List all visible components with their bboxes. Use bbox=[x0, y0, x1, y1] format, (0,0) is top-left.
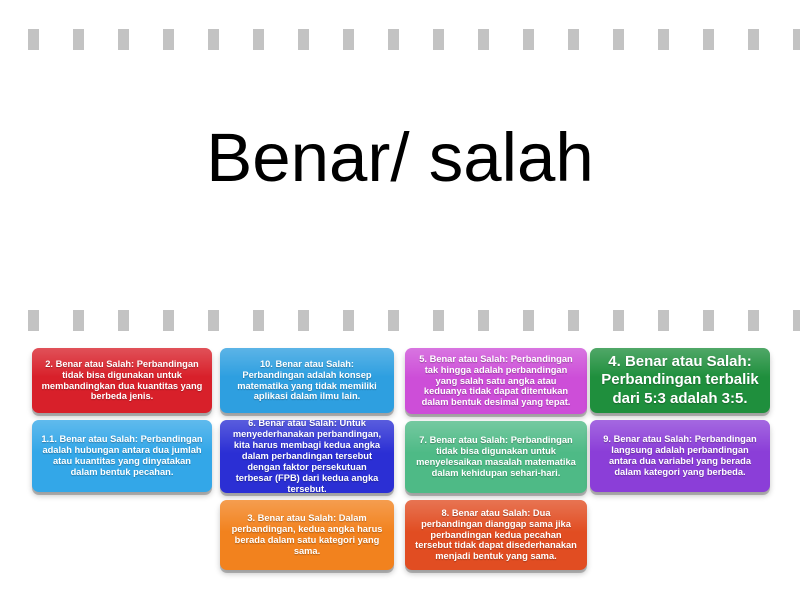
card-4-text: 4. Benar atau Salah: Perbandingan terbal… bbox=[598, 353, 762, 408]
card-column-1: 2. Benar atau Salah: Perbandingan tidak … bbox=[32, 348, 212, 492]
dashed-divider-top bbox=[0, 29, 800, 51]
dash-mark bbox=[703, 310, 714, 331]
card-6[interactable]: 6. Benar atau Salah: Untuk menyederhanak… bbox=[220, 420, 394, 493]
dash-mark bbox=[208, 310, 219, 331]
dash-mark bbox=[613, 29, 624, 50]
dash-mark bbox=[298, 29, 309, 50]
card-3-text: 3. Benar atau Salah: Dalam perbandingan,… bbox=[228, 513, 386, 557]
dash-mark bbox=[613, 310, 624, 331]
card-2-text: 2. Benar atau Salah: Perbandingan tidak … bbox=[40, 359, 204, 403]
dash-mark bbox=[298, 310, 309, 331]
card-7[interactable]: 7. Benar atau Salah: Perbandingan tidak … bbox=[405, 421, 587, 493]
dash-mark bbox=[478, 29, 489, 50]
card-2[interactable]: 2. Benar atau Salah: Perbandingan tidak … bbox=[32, 348, 212, 413]
dash-mark bbox=[343, 29, 354, 50]
card-3[interactable]: 3. Benar atau Salah: Dalam perbandingan,… bbox=[220, 500, 394, 570]
card-9[interactable]: 9. Benar atau Salah: Perbandingan langsu… bbox=[590, 420, 770, 492]
dash-mark bbox=[28, 310, 39, 331]
dash-mark bbox=[253, 310, 264, 331]
card-board: 2. Benar atau Salah: Perbandingan tidak … bbox=[0, 348, 800, 588]
dash-mark bbox=[478, 310, 489, 331]
dash-mark bbox=[118, 29, 129, 50]
card-4[interactable]: 4. Benar atau Salah: Perbandingan terbal… bbox=[590, 348, 770, 413]
dash-mark bbox=[793, 310, 800, 331]
dash-mark bbox=[658, 310, 669, 331]
page-title: Benar/ salah bbox=[0, 120, 800, 196]
dash-mark bbox=[118, 310, 129, 331]
dash-mark bbox=[523, 310, 534, 331]
dash-mark bbox=[793, 29, 800, 50]
card-9-text: 9. Benar atau Salah: Perbandingan langsu… bbox=[598, 434, 762, 478]
dash-mark bbox=[658, 29, 669, 50]
dash-mark bbox=[748, 310, 759, 331]
card-column-4: 4. Benar atau Salah: Perbandingan terbal… bbox=[590, 348, 770, 492]
dash-mark bbox=[568, 29, 579, 50]
quiz-board-stage: Benar/ salah 2. Benar atau Salah: Perban… bbox=[0, 0, 800, 600]
dash-mark bbox=[253, 29, 264, 50]
dash-mark bbox=[163, 310, 174, 331]
dash-mark bbox=[748, 29, 759, 50]
card-10[interactable]: 10. Benar atau Salah: Perbandingan adala… bbox=[220, 348, 394, 413]
card-6-text: 6. Benar atau Salah: Untuk menyederhanak… bbox=[228, 420, 386, 493]
card-8-text: 8. Benar atau Salah: Dua perbandingan di… bbox=[413, 508, 579, 563]
dash-mark bbox=[433, 29, 444, 50]
card-1-1-text: 1.1. Benar atau Salah: Perbandingan adal… bbox=[40, 434, 204, 478]
dash-mark bbox=[433, 310, 444, 331]
dash-mark bbox=[163, 29, 174, 50]
card-8[interactable]: 8. Benar atau Salah: Dua perbandingan di… bbox=[405, 500, 587, 570]
card-5-text: 5. Benar atau Salah: Perbandingan tak hi… bbox=[413, 354, 579, 409]
dash-mark bbox=[208, 29, 219, 50]
card-10-text: 10. Benar atau Salah: Perbandingan adala… bbox=[228, 359, 386, 403]
dash-mark bbox=[388, 29, 399, 50]
dash-mark bbox=[703, 29, 714, 50]
dash-mark bbox=[73, 29, 84, 50]
card-7-text: 7. Benar atau Salah: Perbandingan tidak … bbox=[413, 435, 579, 479]
dash-mark bbox=[523, 29, 534, 50]
dash-mark bbox=[388, 310, 399, 331]
card-column-2: 10. Benar atau Salah: Perbandingan adala… bbox=[220, 348, 394, 570]
dash-mark bbox=[343, 310, 354, 331]
dashed-divider-middle bbox=[0, 310, 800, 332]
card-1-1[interactable]: 1.1. Benar atau Salah: Perbandingan adal… bbox=[32, 420, 212, 492]
card-column-3: 5. Benar atau Salah: Perbandingan tak hi… bbox=[405, 348, 587, 570]
dash-mark bbox=[28, 29, 39, 50]
dash-mark bbox=[568, 310, 579, 331]
dash-mark bbox=[73, 310, 84, 331]
card-5[interactable]: 5. Benar atau Salah: Perbandingan tak hi… bbox=[405, 348, 587, 414]
